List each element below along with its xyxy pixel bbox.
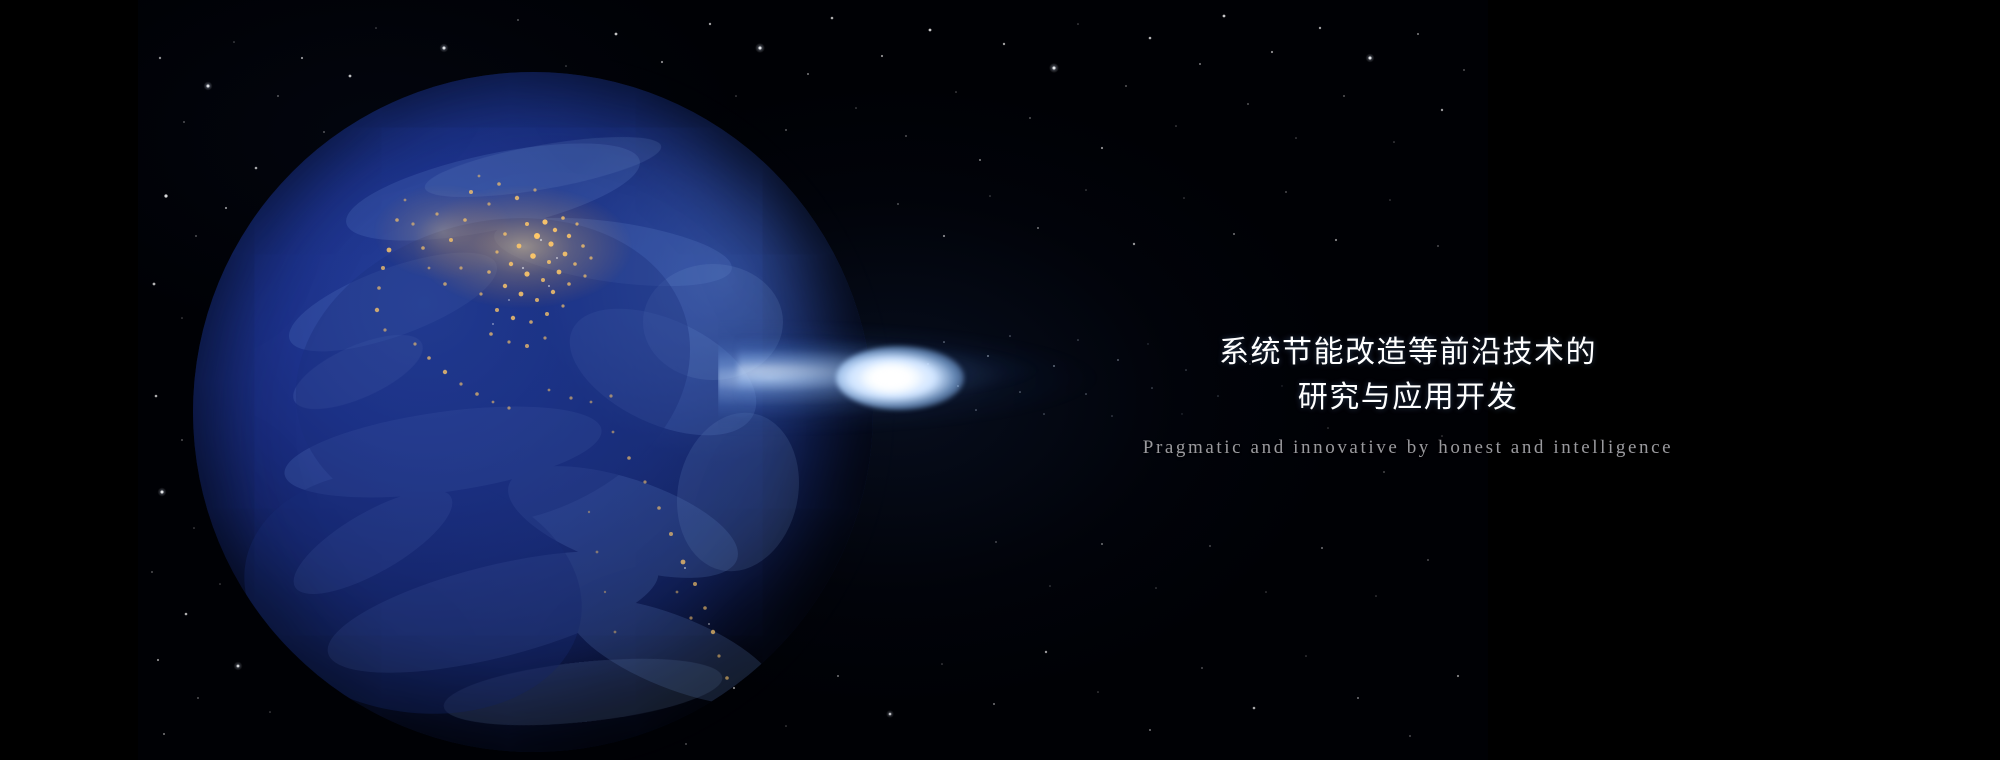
space-photo-plate (138, 0, 1488, 760)
banner-stage: 系统节能改造等前沿技术的 研究与应用开发 Pragmatic and innov… (0, 0, 2000, 760)
earth-city-lights (193, 72, 873, 752)
earth-night-globe (193, 72, 873, 752)
